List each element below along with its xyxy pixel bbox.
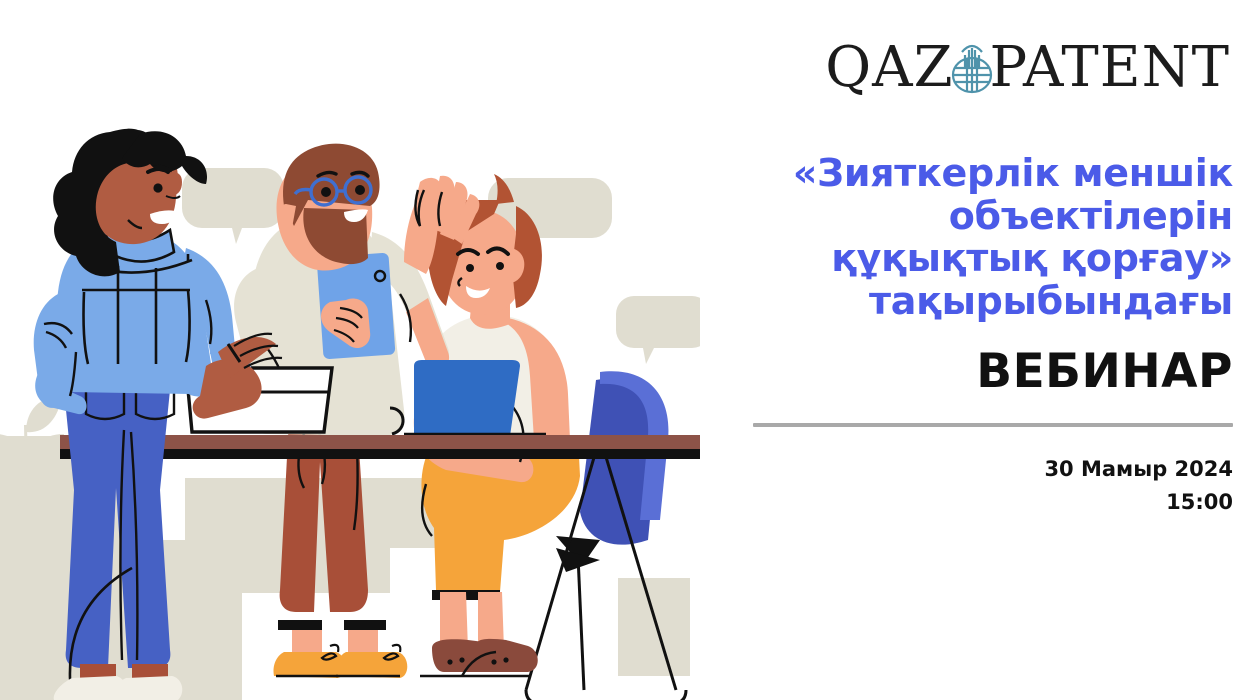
event-meta: 30 Мамыр 2024 15:00 [700, 453, 1233, 518]
event-date: 30 Мамыр 2024 [700, 453, 1233, 486]
title-line-3: құқықтық қорғау» [700, 237, 1233, 280]
webinar-poster: QAZ PATENT «Зияткерлік меншік объектілер… [0, 0, 1260, 700]
title-line-2: объектілерін [700, 195, 1233, 238]
divider [753, 423, 1233, 427]
title-line-4: тақырыбындағы [700, 280, 1233, 323]
logo-text-qaz: QAZ [825, 40, 953, 96]
title-line-1: «Зияткерлік меншік [700, 152, 1233, 195]
dombra-globe-icon [948, 38, 996, 98]
office-team-illustration [0, 0, 700, 700]
event-type-label: ВЕБИНАР [700, 348, 1233, 395]
logo-text-patent: PATENT [990, 40, 1231, 96]
qazpatent-logo: QAZ PATENT [825, 36, 1230, 100]
poster-text-column: «Зияткерлік меншік объектілерін құқықтық… [700, 152, 1233, 518]
event-time: 15:00 [700, 486, 1233, 519]
page-title: «Зияткерлік меншік объектілерін құқықтық… [700, 152, 1233, 322]
